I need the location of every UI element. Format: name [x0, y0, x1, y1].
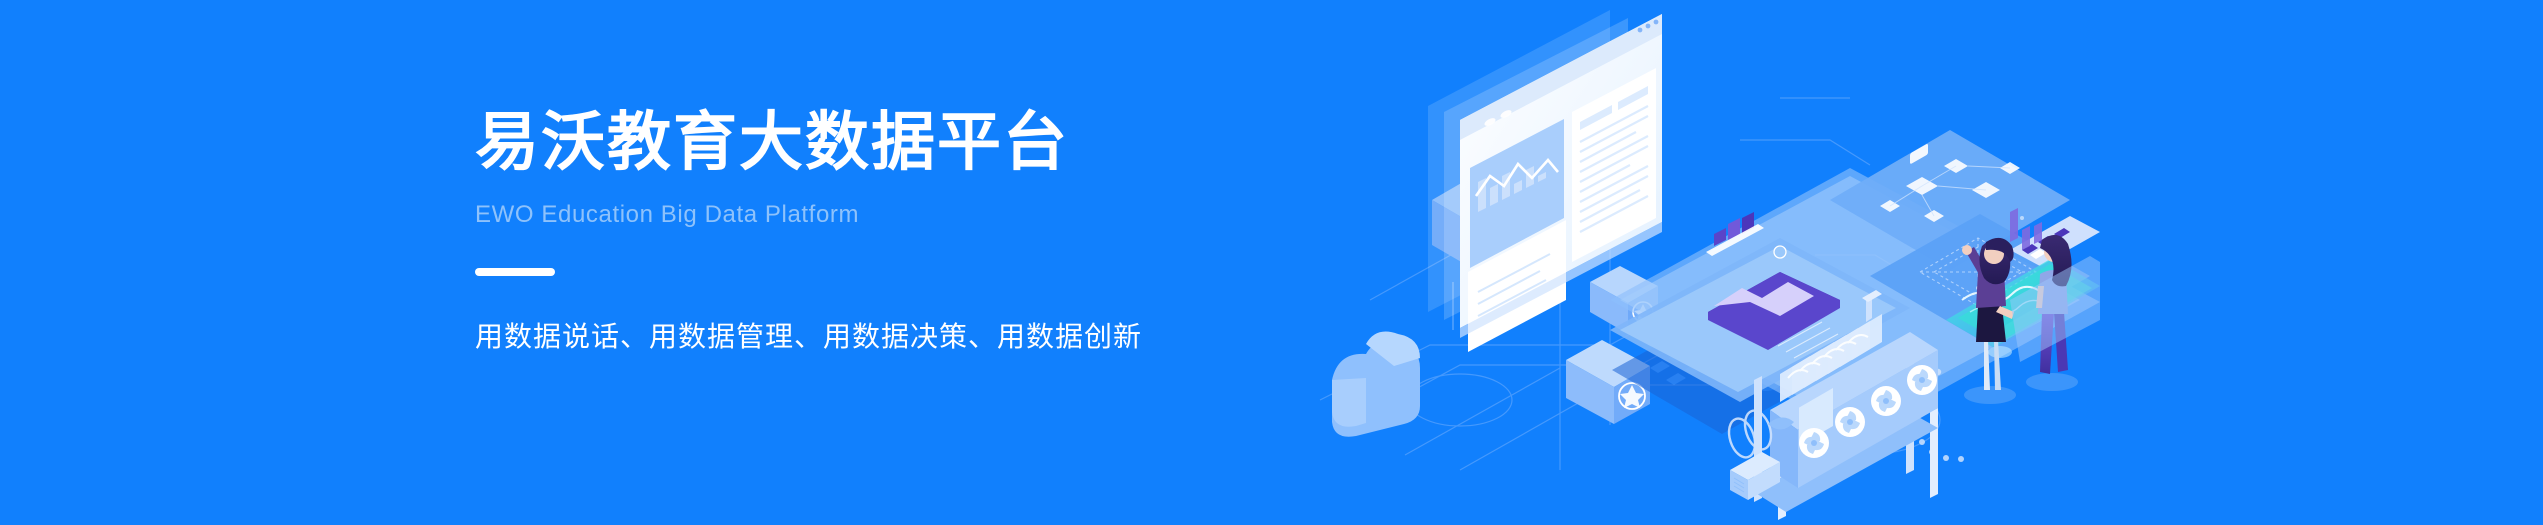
hero-text-block: 易沃教育大数据平台 EWO Education Big Data Platfor… [475, 108, 1275, 354]
cloud-icon [1332, 332, 1420, 437]
page-tagline: 用数据说话、用数据管理、用数据决策、用数据创新 [475, 320, 1275, 354]
title-divider [475, 268, 555, 276]
hero-banner: 易沃教育大数据平台 EWO Education Big Data Platfor… [0, 0, 2543, 525]
isometric-illustration [1310, 0, 2100, 525]
page-subtitle: EWO Education Big Data Platform [475, 201, 1275, 230]
page-title: 易沃教育大数据平台 [475, 108, 1275, 177]
